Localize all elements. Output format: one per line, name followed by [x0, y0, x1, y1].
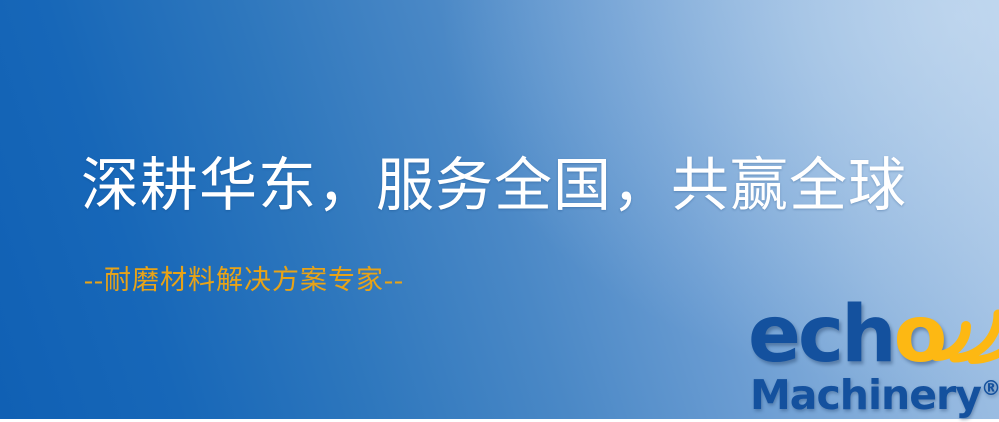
- logo-subtext: Machinery®: [750, 368, 999, 416]
- company-logo[interactable]: echo Machinery®: [742, 296, 999, 420]
- registered-trademark-icon: ®: [981, 376, 999, 400]
- banner-headline: 深耕华东，服务全国，共赢全球: [81, 152, 907, 220]
- logo-wordmark: echo: [748, 296, 944, 374]
- promo-banner: 深耕华东，服务全国，共赢全球 --耐磨材料解决方案专家-- echo Machi…: [0, 0, 999, 422]
- logo-text-machinery: Machinery: [750, 371, 981, 419]
- echo-wave-icon: [928, 292, 999, 366]
- logo-text-ech: ech: [748, 290, 894, 380]
- banner-subtitle: --耐磨材料解决方案专家--: [84, 264, 404, 296]
